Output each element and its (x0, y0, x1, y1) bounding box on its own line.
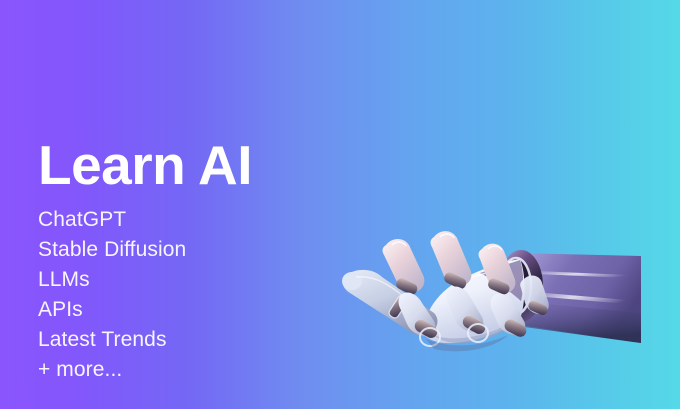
list-item: + more... (38, 355, 186, 385)
list-item: Latest Trends (38, 325, 186, 355)
banner-canvas: Learn AI ChatGPT Stable Diffusion LLMs A… (0, 0, 680, 409)
list-item: LLMs (38, 265, 186, 295)
topic-list: ChatGPT Stable Diffusion LLMs APIs Lates… (38, 205, 186, 385)
list-item: Stable Diffusion (38, 235, 186, 265)
page-title: Learn AI (38, 137, 252, 195)
robotic-hand-image (330, 215, 680, 375)
list-item: ChatGPT (38, 205, 186, 235)
list-item: APIs (38, 295, 186, 325)
